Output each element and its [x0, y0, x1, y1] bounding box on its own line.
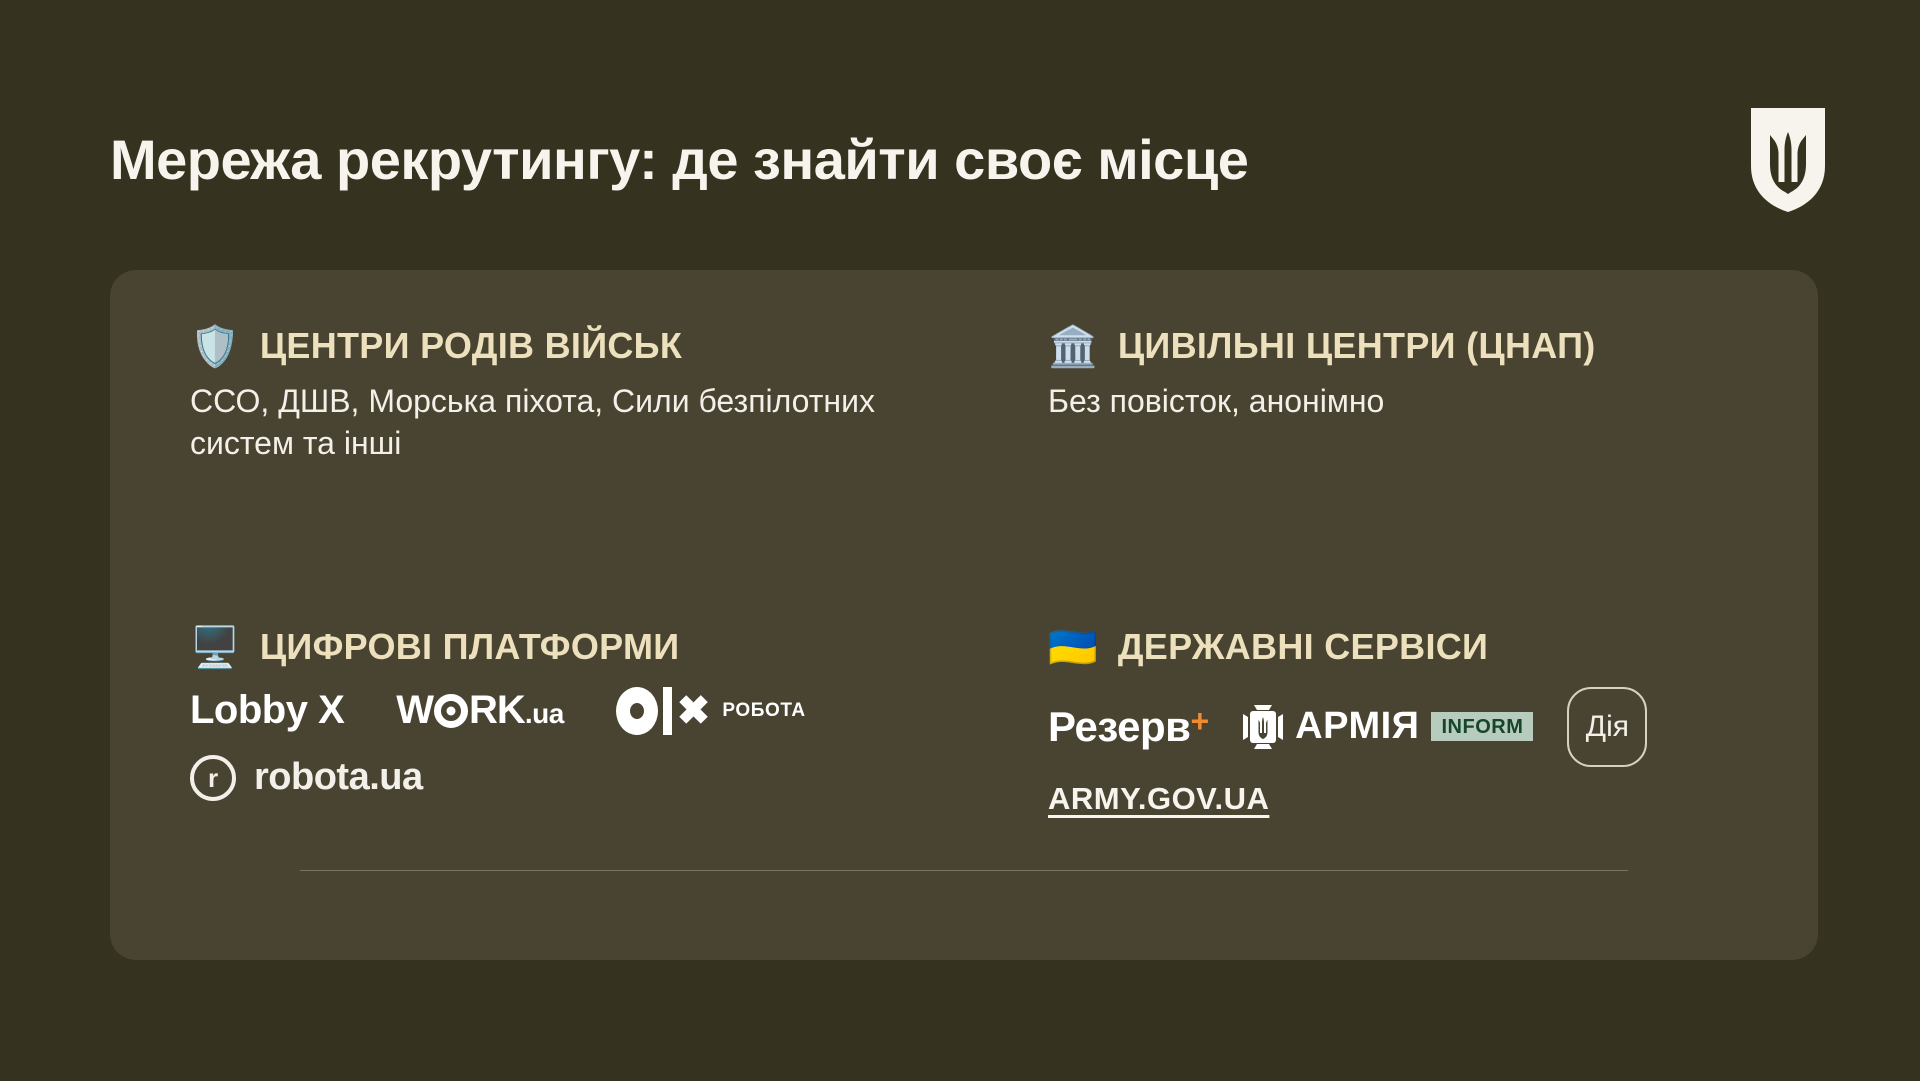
classical-building-icon: 🏛️: [1048, 327, 1098, 367]
work-prefix: W: [396, 688, 433, 733]
section-title-civil-centers: ЦИВІЛЬНІ ЦЕНТРИ (ЦНАП): [1118, 325, 1596, 367]
section-civil-centers: 🏛️ ЦИВІЛЬНІ ЦЕНТРИ (ЦНАП) Без повісток, …: [1030, 325, 1738, 568]
section-divider: [300, 870, 1628, 871]
logo-robota-ua[interactable]: r robota.ua: [190, 755, 423, 801]
inform-badge: INFORM: [1431, 712, 1533, 741]
work-tld: .ua: [525, 698, 564, 730]
section-digital-platforms: 🖥️ ЦИФРОВІ ПЛАТФОРМИ Lobby X W RK .ua: [190, 568, 1030, 920]
rezerv-plus-icon: +: [1190, 705, 1209, 737]
olx-o-icon: [616, 687, 658, 735]
logo-lobbyx[interactable]: Lobby X: [190, 688, 344, 733]
ukraine-flag-icon: 🇺🇦: [1048, 628, 1098, 668]
section-title-state-services: ДЕРЖАВНІ СЕРВІСИ: [1118, 626, 1488, 668]
ukrainian-armed-forces-trident-shield-icon: [1751, 108, 1825, 212]
logo-rezerv-plus[interactable]: Резерв +: [1048, 703, 1209, 751]
robota-r-icon: r: [190, 755, 236, 801]
olx-l-icon: [663, 687, 672, 735]
page-header: Мережа рекрутингу: де знайти своє місце: [110, 100, 1825, 220]
desktop-computer-icon: 🖥️: [190, 628, 240, 668]
state-service-logos: Резерв + АРМІЯ INFORM: [1048, 687, 1738, 767]
logo-work-ua[interactable]: W RK .ua: [396, 688, 564, 733]
infographic-page: Мережа рекрутингу: де знайти своє місце …: [0, 0, 1920, 1081]
olx-mark-icon: ✖: [616, 687, 711, 735]
section-header: 🛡️ ЦЕНТРИ РОДІВ ВІЙСЬК: [190, 325, 1030, 367]
section-title-branch-centers: ЦЕНТРИ РОДІВ ВІЙСЬК: [260, 325, 682, 367]
section-branch-centers: 🛡️ ЦЕНТРИ РОДІВ ВІЙСЬК ССО, ДШВ, Морська…: [190, 325, 1030, 568]
page-title: Мережа рекрутингу: де знайти своє місце: [110, 129, 1248, 191]
work-o-icon: [434, 694, 468, 728]
armia-text: АРМІЯ: [1295, 705, 1419, 748]
logo-olx-robota[interactable]: ✖ РОБОТА: [616, 687, 806, 735]
digital-platform-logos: Lobby X W RK .ua ✖: [190, 687, 910, 801]
section-header: 🏛️ ЦИВІЛЬНІ ЦЕНТРИ (ЦНАП): [1048, 325, 1738, 367]
logo-diia-button[interactable]: Дія: [1567, 687, 1647, 767]
section-body-branch-centers: ССО, ДШВ, Морська піхота, Сили безпілотн…: [190, 381, 950, 464]
robota-text: robota.ua: [254, 756, 423, 799]
shield-icon: 🛡️: [190, 327, 240, 367]
work-suffix: RK: [469, 688, 525, 733]
content-card: 🛡️ ЦЕНТРИ РОДІВ ВІЙСЬК ССО, ДШВ, Морська…: [110, 270, 1818, 960]
section-body-civil-centers: Без повісток, анонімно: [1048, 381, 1738, 423]
olx-x-icon: ✖: [677, 689, 711, 733]
rezerv-text: Резерв: [1048, 703, 1190, 751]
army-gov-ua-link[interactable]: ARMY.GOV.UA: [1048, 781, 1269, 817]
section-header: 🖥️ ЦИФРОВІ ПЛАТФОРМИ: [190, 626, 1030, 668]
olx-label: РОБОТА: [722, 700, 805, 722]
section-state-services: 🇺🇦 ДЕРЖАВНІ СЕРВІСИ Резерв +: [1030, 568, 1738, 920]
section-title-digital-platforms: ЦИФРОВІ ПЛАТФОРМИ: [260, 626, 680, 668]
logo-armia-inform[interactable]: АРМІЯ INFORM: [1243, 705, 1533, 749]
armia-cross-trident-icon: [1243, 705, 1283, 749]
section-header: 🇺🇦 ДЕРЖАВНІ СЕРВІСИ: [1048, 626, 1738, 668]
